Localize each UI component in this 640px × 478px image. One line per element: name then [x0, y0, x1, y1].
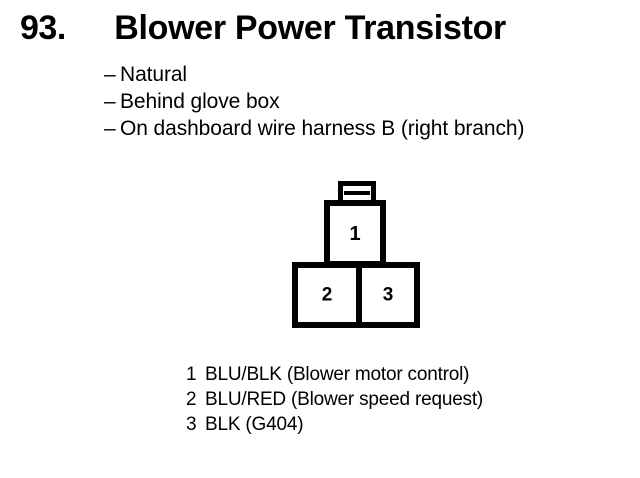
cavity-number-label: 3	[362, 286, 414, 305]
attribute-item: –On dashboard wire harness B (right bran…	[104, 115, 634, 142]
legend-row: 3BLK (G404)	[186, 412, 626, 437]
attribute-label: Behind glove box	[120, 90, 280, 113]
legend-pin-description: BLU/BLK (Blower motor control)	[205, 362, 469, 387]
component-attribute-list: –Natural –Behind glove box –On dashboard…	[104, 61, 634, 142]
item-number: 93.	[20, 9, 66, 48]
dash-bullet-icon: –	[104, 88, 120, 115]
page-title: Blower Power Transistor	[114, 9, 506, 48]
attribute-item: –Natural	[104, 61, 634, 88]
attribute-label: Natural	[120, 63, 187, 86]
connector-latch-slot-icon	[344, 191, 370, 195]
legend-row: 2BLU/RED (Blower speed request)	[186, 387, 626, 412]
cavity-number-label: 2	[298, 286, 356, 305]
legend-pin-number: 3	[186, 412, 205, 437]
legend-pin-number: 2	[186, 387, 205, 412]
connector-cavity-row: 2 3	[292, 262, 420, 328]
connector-cavity-2: 2	[298, 268, 356, 322]
cavity-number-label: 1	[330, 224, 380, 244]
legend-pin-description: BLK (G404)	[205, 412, 303, 437]
legend-row: 1BLU/BLK (Blower motor control)	[186, 362, 626, 387]
connector-cavity-1: 1	[324, 200, 386, 267]
dash-bullet-icon: –	[104, 115, 120, 142]
connector-diagram: 1 2 3	[288, 178, 428, 334]
attribute-label: On dashboard wire harness B (right branc…	[120, 117, 524, 140]
legend-pin-description: BLU/RED (Blower speed request)	[205, 387, 483, 412]
connector-cavity-3: 3	[362, 268, 414, 322]
dash-bullet-icon: –	[104, 61, 120, 88]
legend-pin-number: 1	[186, 362, 205, 387]
title-row: 93. Blower Power Transistor	[20, 9, 506, 48]
attribute-item: –Behind glove box	[104, 88, 634, 115]
pin-legend: 1BLU/BLK (Blower motor control) 2BLU/RED…	[186, 362, 626, 437]
